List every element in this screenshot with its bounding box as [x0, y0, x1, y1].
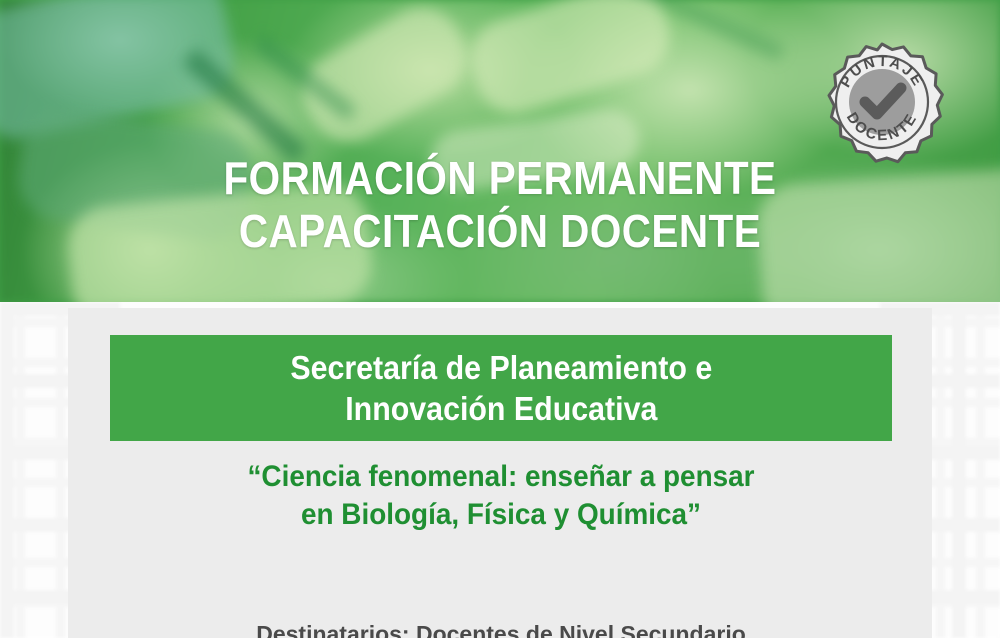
hero-title-line2: CAPACITACIÓN DOCENTE: [60, 205, 940, 258]
organization-line2: Innovación Educativa: [345, 390, 657, 427]
poster-page: FORMACIÓN PERMANENTE CAPACITACIÓN DOCENT…: [0, 0, 1000, 638]
organization-line1: Secretaría de Planeamiento e: [290, 349, 712, 386]
hero-title-line1: FORMACIÓN PERMANENTE: [223, 152, 776, 204]
hero-banner: FORMACIÓN PERMANENTE CAPACITACIÓN DOCENT…: [0, 0, 1000, 302]
course-title: “Ciencia fenomenal: enseñar a pensar en …: [137, 458, 864, 534]
content-panel: Secretaría de Planeamiento e Innovación …: [68, 308, 932, 638]
details-line: Destinatarios: Docentes de Nivel Secunda…: [110, 620, 892, 638]
organization-banner: Secretaría de Planeamiento e Innovación …: [110, 335, 892, 441]
organization-banner-text: Secretaría de Planeamiento e Innovación …: [290, 347, 712, 429]
puntaje-docente-seal: PUNTAJE DOCENTE: [820, 40, 944, 164]
hero-title: FORMACIÓN PERMANENTE CAPACITACIÓN DOCENT…: [60, 152, 940, 258]
course-title-line1: “Ciencia fenomenal: enseñar a pensar: [247, 460, 754, 493]
course-title-line2: en Biología, Física y Química”: [301, 498, 701, 531]
